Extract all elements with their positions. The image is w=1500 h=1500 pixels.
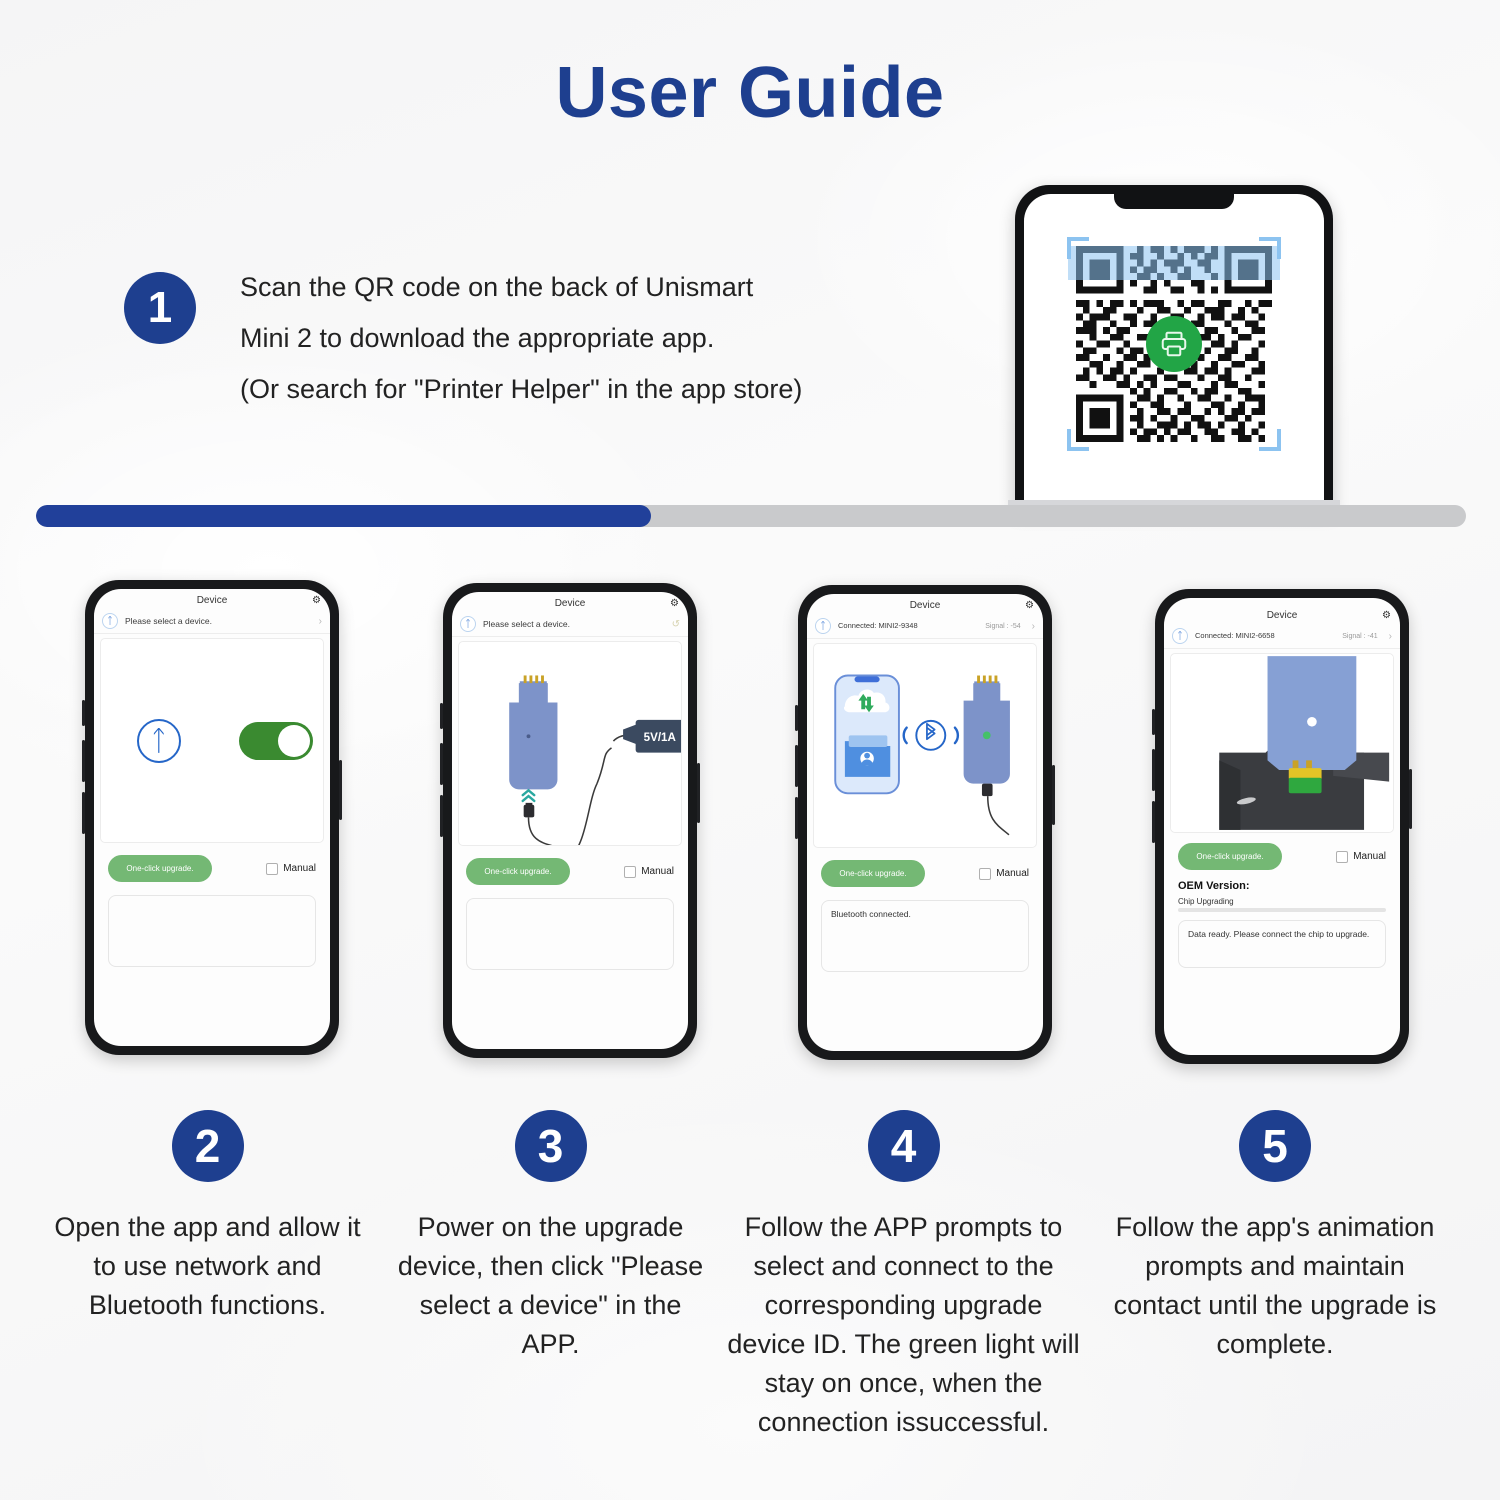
stage-bluetooth-pairing [813,643,1037,848]
refresh-icon[interactable]: ↺ [672,619,680,630]
manual-checkbox-row[interactable]: Manual [266,863,316,875]
phone-volume-down-button[interactable] [1152,801,1155,843]
phone-step-5: Device ⚙ ᛏ Connected: MINI2-6658 Signal … [1155,589,1409,1064]
app-header: Device ⚙ [94,589,330,610]
device-status-bar[interactable]: ᛏ Connected: MINI2-9348 Signal : -54 › [807,615,1043,639]
phone-volume-up-button[interactable] [795,745,798,787]
log-output-box: Bluetooth connected. [821,900,1029,972]
app-title: Device [197,595,228,606]
caption-step-3-text: Power on the upgrade device, then click … [393,1208,708,1364]
one-click-upgrade-button[interactable]: One-click upgrade. [466,858,570,885]
step-1-text: Scan the QR code on the back of Unismart… [240,262,802,415]
phone-step-4: Device ⚙ ᛏ Connected: MINI2-9348 Signal … [798,585,1052,1060]
device-status-bar[interactable]: ᛏ Please select a device. ↺ [452,613,688,637]
manual-checkbox-row[interactable]: Manual [1336,851,1386,863]
qr-corner-bottom-right-icon [1259,429,1281,451]
step-number-2: 2 [172,1110,244,1182]
step-number-5: 5 [1239,1110,1311,1182]
action-row: One-click upgrade. Manual [452,846,688,885]
app-title: Device [1267,610,1298,621]
bluetooth-icon: ᛏ [102,613,118,629]
manual-label: Manual [996,868,1029,879]
qr-corner-bottom-left-icon [1067,429,1089,451]
phone-side-button[interactable] [82,700,85,726]
action-row: One-click upgrade. Manual [807,848,1043,887]
caption-step-2-text: Open the app and allow it to use network… [40,1208,375,1325]
page-title: User Guide [0,52,1500,134]
phone-volume-up-button[interactable] [440,743,443,785]
phone-side-button[interactable] [1152,709,1155,735]
bluetooth-icon: ᛏ [1172,628,1188,644]
qr-scan-phone [1015,185,1333,510]
app-title: Device [910,600,941,611]
app-header: Device ⚙ [1164,598,1400,625]
manual-label: Manual [641,866,674,877]
phone-step-2: Device ⚙ ᛏ Please select a device. › ᛏ O… [85,580,339,1055]
phone-screenshots-row: Device ⚙ ᛏ Please select a device. › ᛏ O… [0,575,1500,1075]
step-1-line-3: (Or search for "Printer Helper" in the a… [240,364,802,415]
bluetooth-large-icon: ᛏ [137,719,181,763]
phone-volume-down-button[interactable] [795,797,798,839]
step-1-line-2: Mini 2 to download the appropriate app. [240,313,802,364]
phone-volume-down-button[interactable] [82,792,85,834]
phone-volume-up-button[interactable] [82,740,85,782]
phone-power-button[interactable] [339,760,342,820]
app-header: Device ⚙ [452,592,688,613]
app-title: Device [555,598,586,609]
log-output-box [466,898,674,970]
qr-phone-screen [1024,194,1324,510]
step-number-4: 4 [868,1110,940,1182]
chevron-right-icon[interactable]: › [1389,631,1392,642]
phone-notch [1114,194,1234,209]
chevron-right-icon[interactable]: › [1032,621,1035,632]
qr-corner-top-right-icon [1259,237,1281,259]
qr-scan-band [1068,246,1280,280]
manual-checkbox[interactable] [266,863,278,875]
qr-corner-top-left-icon [1067,237,1089,259]
stage-chip-contact [1170,653,1394,833]
phone-side-button[interactable] [440,703,443,729]
manual-checkbox[interactable] [979,868,991,880]
manual-label: Manual [283,863,316,874]
log-output-box: Data ready. Please connect the chip to u… [1178,920,1386,968]
phone-step-3: Device ⚙ ᛏ Please select a device. ↺ [443,583,697,1058]
device-status-bar[interactable]: ᛏ Connected: MINI2-6658 Signal : -41 › [1164,625,1400,649]
bluetooth-icon: ᛏ [460,616,476,632]
progress-bar[interactable] [36,505,1466,527]
chip-contact-illustration [1171,654,1393,832]
signal-strength-label: Signal : -54 [985,623,1020,630]
phone-step-3-screen: Device ⚙ ᛏ Please select a device. ↺ [452,592,688,1049]
gear-icon[interactable]: ⚙ [1025,601,1034,611]
caption-step-5: 5 Follow the app's animation prompts and… [1110,1110,1440,1364]
chevron-right-icon[interactable]: › [319,616,322,627]
step-number-1: 1 [124,272,196,344]
chip-progress-bar [1178,908,1386,912]
phone-power-button[interactable] [1409,769,1412,829]
one-click-upgrade-button[interactable]: One-click upgrade. [1178,843,1282,870]
progress-bar-fill [36,505,651,527]
bluetooth-toggle-switch[interactable] [239,722,313,760]
manual-checkbox[interactable] [1336,851,1348,863]
device-status-bar[interactable]: ᛏ Please select a device. › [94,610,330,634]
stage-power-adapter: 5V/1A [458,641,682,846]
manual-checkbox[interactable] [624,866,636,878]
phone-power-button[interactable] [1052,765,1055,825]
step-number-3: 3 [515,1110,587,1182]
action-row: One-click upgrade. Manual [94,843,330,882]
manual-checkbox-row[interactable]: Manual [979,868,1029,880]
action-row: One-click upgrade. Manual [1164,833,1400,870]
pairing-illustration [814,644,1036,847]
power-on-illustration: 5V/1A [459,642,681,845]
bluetooth-icon: ᛏ [815,618,831,634]
device-status-text: Connected: MINI2-9348 [838,621,978,630]
manual-checkbox-row[interactable]: Manual [624,866,674,878]
one-click-upgrade-button[interactable]: One-click upgrade. [108,855,212,882]
caption-step-2: 2 Open the app and allow it to use netwo… [40,1110,375,1325]
printer-icon [1146,316,1202,372]
manual-label: Manual [1353,851,1386,862]
step-1-line-1: Scan the QR code on the back of Unismart [240,262,802,313]
guide-page: User Guide 1 Scan the QR code on the bac… [0,0,1500,1500]
device-status-text: Please select a device. [125,616,308,627]
gear-icon[interactable]: ⚙ [1382,611,1391,621]
chip-progress-row: Chip Upgrading [1164,892,1400,912]
phone-step-4-screen: Device ⚙ ᛏ Connected: MINI2-9348 Signal … [807,594,1043,1051]
phone-volume-down-button[interactable] [440,795,443,837]
device-status-text: Connected: MINI2-6658 [1195,631,1335,640]
caption-step-5-text: Follow the app's animation prompts and m… [1110,1208,1440,1364]
phone-side-button[interactable] [795,705,798,731]
caption-step-4-text: Follow the APP prompts to select and con… [726,1208,1081,1442]
app-header: Device ⚙ [807,594,1043,615]
phone-volume-up-button[interactable] [1152,749,1155,791]
device-status-text: Please select a device. [483,619,661,630]
caption-step-3: 3 Power on the upgrade device, then clic… [393,1110,708,1364]
signal-strength-label: Signal : -41 [1342,633,1377,640]
qr-code[interactable] [1076,246,1272,442]
log-output-box [108,895,316,967]
oem-version-label: OEM Version: [1164,870,1400,892]
chip-status-text: Chip Upgrading [1178,897,1386,906]
phone-step-2-screen: Device ⚙ ᛏ Please select a device. › ᛏ O… [94,589,330,1046]
gear-icon[interactable]: ⚙ [312,596,321,606]
stage-bluetooth-toggle: ᛏ [100,638,324,843]
step-1-block: 1 Scan the QR code on the back of Unisma… [124,262,802,415]
phone-step-5-screen: Device ⚙ ᛏ Connected: MINI2-6658 Signal … [1164,598,1400,1055]
caption-step-4: 4 Follow the APP prompts to select and c… [726,1110,1081,1442]
phone-power-button[interactable] [697,763,700,823]
one-click-upgrade-button[interactable]: One-click upgrade. [821,860,925,887]
gear-icon[interactable]: ⚙ [670,599,679,609]
adapter-label: 5V/1A [644,732,677,744]
